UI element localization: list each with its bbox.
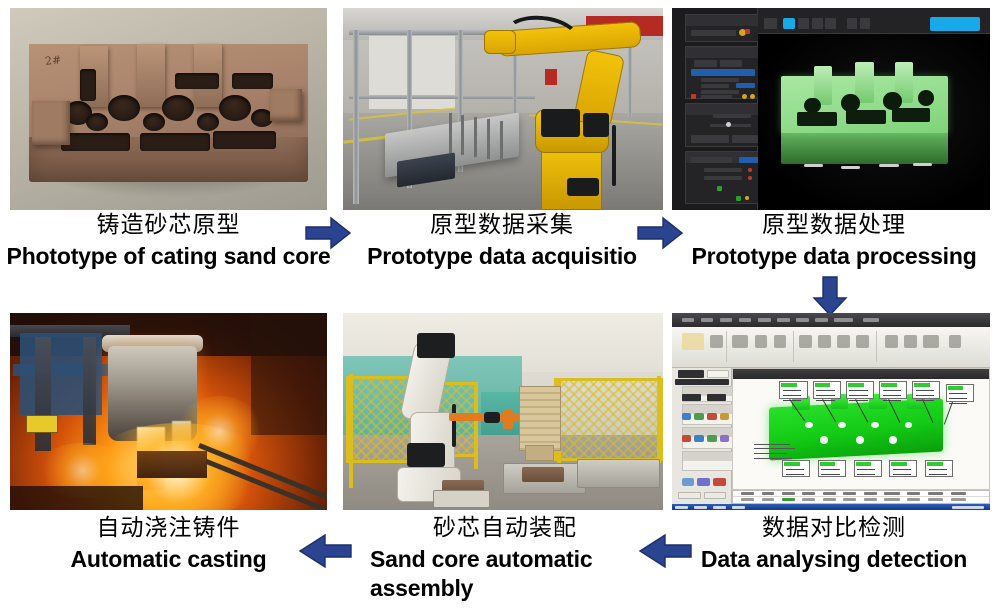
table-cell bbox=[928, 498, 943, 501]
measurement-callout[interactable] bbox=[779, 381, 807, 399]
table-header-cell bbox=[762, 492, 775, 495]
frame-post bbox=[628, 36, 632, 117]
toolbar-button[interactable] bbox=[847, 18, 857, 29]
step-1-caption: 铸造砂芯原型 Phototype of cating sand core bbox=[0, 212, 337, 270]
callout-header bbox=[784, 462, 800, 466]
menu-item[interactable] bbox=[834, 318, 853, 323]
ribbon-button[interactable] bbox=[818, 335, 831, 349]
table-header-cell bbox=[907, 492, 920, 495]
callout-value-row bbox=[821, 469, 839, 470]
callout-value-row bbox=[949, 393, 967, 394]
ribbon-separator bbox=[726, 331, 727, 363]
toolbar-button[interactable] bbox=[812, 18, 823, 29]
step-2-label-en: Prototype data acquisitio bbox=[337, 243, 667, 270]
robot-controller-box bbox=[567, 178, 599, 196]
callout-value-row bbox=[929, 474, 947, 475]
menu-item[interactable] bbox=[739, 318, 752, 323]
callout-value-row bbox=[816, 400, 834, 401]
wooden-crate bbox=[525, 445, 554, 461]
core-port bbox=[232, 73, 273, 89]
menu-item[interactable] bbox=[720, 318, 733, 323]
scan-record-icon bbox=[745, 29, 750, 34]
ribbon-button[interactable] bbox=[949, 335, 962, 349]
panel-button[interactable] bbox=[682, 394, 701, 401]
scan-model-bore bbox=[841, 94, 860, 112]
fence-post bbox=[474, 382, 478, 469]
panel-icon[interactable] bbox=[697, 478, 710, 486]
callout-value-row bbox=[883, 390, 901, 391]
mould-box bbox=[137, 451, 207, 479]
toolbar-button[interactable] bbox=[798, 18, 809, 29]
model-info-text bbox=[754, 453, 787, 454]
crane-frame bbox=[13, 364, 114, 376]
ribbon-button[interactable] bbox=[732, 335, 748, 349]
step-5-label-en-line1: Sand core automatic bbox=[360, 546, 650, 573]
arrow-step1-to-step2 bbox=[305, 216, 351, 250]
scan-list-item[interactable] bbox=[704, 176, 742, 180]
callout-header bbox=[781, 383, 797, 387]
panel-icon[interactable] bbox=[713, 478, 726, 486]
gripper-tool bbox=[484, 412, 500, 424]
table-cell bbox=[907, 498, 920, 501]
panel-icon[interactable] bbox=[720, 435, 730, 442]
sand-core-prototype-photo: 2# bbox=[10, 8, 327, 210]
table-cell bbox=[823, 498, 836, 501]
scan-action-row bbox=[701, 95, 733, 99]
3d-scan-software-screenshot bbox=[672, 8, 990, 210]
scan-button[interactable] bbox=[691, 135, 729, 143]
arrow-step5-to-step6 bbox=[298, 533, 352, 569]
callout-value-row bbox=[849, 390, 867, 391]
scan-dropdown bbox=[691, 30, 736, 36]
panel-toolbar bbox=[675, 379, 729, 385]
model-info-text bbox=[754, 448, 795, 449]
menu-item[interactable] bbox=[758, 318, 771, 323]
taskbar-icon[interactable] bbox=[732, 506, 745, 509]
scan-list-header bbox=[691, 157, 732, 163]
scan-model-marker bbox=[879, 164, 900, 167]
fence-post bbox=[349, 374, 353, 488]
callout-value-row bbox=[916, 395, 934, 396]
ribbon-button[interactable] bbox=[755, 335, 768, 349]
core-port bbox=[80, 69, 96, 101]
step-5-caption: 砂芯自动装配 Sand core automatic assembly bbox=[360, 515, 650, 602]
callout-value-row bbox=[786, 474, 804, 475]
scan-delete-icon[interactable] bbox=[748, 168, 752, 172]
sand-core-marking: 2# bbox=[44, 54, 61, 69]
table-cell bbox=[884, 498, 899, 501]
callout-value-row bbox=[893, 469, 911, 470]
menu-item[interactable] bbox=[701, 318, 714, 323]
callout-value-row bbox=[916, 400, 934, 401]
panel-icon[interactable] bbox=[682, 435, 692, 442]
scan-button[interactable] bbox=[732, 135, 757, 143]
core-port bbox=[61, 133, 131, 151]
pallet-fixture bbox=[577, 459, 660, 489]
step-4-label-cn: 数据对比检测 bbox=[668, 515, 1000, 542]
menu-item[interactable] bbox=[815, 318, 828, 323]
callout-value-row bbox=[916, 390, 934, 391]
callout-value-row bbox=[816, 395, 834, 396]
callout-value-row bbox=[883, 400, 901, 401]
step-1-label-en: Phototype of cating sand core bbox=[0, 243, 337, 270]
callout-value-row bbox=[816, 390, 834, 391]
panel-icon[interactable] bbox=[694, 435, 704, 442]
table-cell bbox=[741, 498, 754, 501]
ribbon-button[interactable] bbox=[837, 335, 850, 349]
robot-scanning-photo bbox=[343, 8, 663, 210]
step-3-caption: 原型数据处理 Prototype data processing bbox=[668, 212, 1000, 270]
scan-confirm-icon[interactable] bbox=[736, 196, 741, 201]
callout-value-row bbox=[783, 395, 801, 396]
scan-list-badge bbox=[739, 157, 758, 163]
conveyor-roller bbox=[461, 115, 464, 156]
os-taskbar[interactable] bbox=[672, 504, 990, 510]
measurement-callout[interactable] bbox=[879, 381, 907, 399]
crane-column bbox=[83, 337, 96, 445]
callout-value-row bbox=[893, 474, 911, 475]
table-header-cell bbox=[782, 492, 795, 495]
scan-option-row bbox=[701, 90, 739, 94]
menu-item[interactable] bbox=[863, 318, 879, 323]
table-cell bbox=[864, 498, 877, 501]
ribbon-button[interactable] bbox=[799, 335, 812, 349]
step-5-label-cn: 砂芯自动装配 bbox=[360, 515, 650, 542]
workflow-diagram: 2# bbox=[0, 0, 1000, 610]
panel-icon[interactable] bbox=[707, 413, 717, 420]
toolbar-button[interactable] bbox=[764, 18, 777, 29]
measurement-callout[interactable] bbox=[946, 384, 974, 402]
menu-item[interactable] bbox=[682, 318, 695, 323]
model-feature bbox=[856, 436, 864, 443]
measurement-results-table[interactable] bbox=[732, 490, 990, 504]
ribbon-button[interactable] bbox=[923, 335, 939, 349]
furnace-hall-dark bbox=[251, 313, 327, 435]
scan-value-field bbox=[736, 83, 755, 88]
ribbon-button[interactable] bbox=[774, 335, 787, 349]
core-bore bbox=[219, 95, 251, 121]
scan-model-bore bbox=[804, 98, 820, 114]
red-bin bbox=[545, 69, 558, 85]
step-1-label-cn: 铸造砂芯原型 bbox=[0, 212, 337, 239]
robot-wrist-head bbox=[417, 333, 455, 359]
measurement-callout[interactable] bbox=[846, 381, 874, 399]
step-6-label-cn: 自动浇注铸件 bbox=[0, 515, 337, 542]
callout-value-row bbox=[849, 395, 867, 396]
core-boss bbox=[270, 89, 302, 121]
table-cell bbox=[802, 498, 815, 501]
model-info-text bbox=[754, 458, 792, 459]
panel-icon[interactable] bbox=[707, 435, 717, 442]
toolbar-button[interactable] bbox=[860, 18, 870, 29]
scan-status-icon bbox=[717, 186, 722, 191]
step-5-label-en-line2: assembly bbox=[360, 575, 650, 602]
scan-flag-icon bbox=[745, 196, 749, 200]
table-header-cell bbox=[864, 492, 877, 495]
measurement-callout[interactable] bbox=[889, 460, 917, 477]
callout-header bbox=[948, 386, 964, 390]
conveyor-roller bbox=[449, 113, 452, 154]
table-header-cell bbox=[802, 492, 815, 495]
callout-value-row bbox=[821, 474, 839, 475]
measurement-callout[interactable] bbox=[813, 381, 841, 399]
conveyor-roller bbox=[474, 117, 477, 158]
scan-delete-icon[interactable] bbox=[748, 176, 752, 180]
viewport-titlebar bbox=[733, 369, 989, 379]
robot-gripper-finger bbox=[503, 410, 513, 430]
table-header-cell bbox=[823, 492, 836, 495]
platform-edge bbox=[10, 486, 143, 510]
safety-fence bbox=[554, 378, 663, 461]
ribbon-separator bbox=[793, 331, 794, 363]
assembly-robot-photo bbox=[343, 313, 663, 510]
core-port bbox=[213, 131, 276, 149]
scan-option-row bbox=[701, 84, 730, 88]
callout-value-row bbox=[849, 400, 867, 401]
callout-header bbox=[891, 462, 907, 466]
ribbon-button[interactable] bbox=[710, 335, 723, 349]
toolbar-button[interactable] bbox=[825, 18, 836, 29]
callout-header bbox=[815, 383, 831, 387]
callout-value-row bbox=[783, 400, 801, 401]
core-bore bbox=[162, 95, 194, 121]
callout-value-row bbox=[857, 474, 875, 475]
scan-slider[interactable] bbox=[713, 114, 751, 118]
scan-list-item[interactable] bbox=[704, 168, 742, 172]
callout-header bbox=[914, 383, 930, 387]
scan-start-button[interactable] bbox=[930, 17, 981, 31]
model-feature bbox=[889, 436, 897, 443]
ribbon-button[interactable] bbox=[856, 335, 869, 349]
inspection-software-screenshot bbox=[672, 313, 990, 510]
pallet-base bbox=[433, 490, 491, 508]
core-bore bbox=[108, 95, 140, 121]
panel-icon[interactable] bbox=[720, 413, 730, 420]
scan-model-marker bbox=[841, 166, 860, 169]
callout-value-row bbox=[949, 398, 967, 399]
arrow-step2-to-step3 bbox=[637, 216, 683, 250]
model-feature bbox=[820, 436, 828, 443]
taskbar-clock bbox=[952, 506, 984, 509]
ribbon-button[interactable] bbox=[682, 333, 704, 351]
step-2-caption: 原型数据采集 Prototype data acquisitio bbox=[337, 212, 667, 270]
scan-progress-bar bbox=[691, 69, 755, 76]
core-port bbox=[140, 133, 210, 151]
step-3-label-cn: 原型数据处理 bbox=[668, 212, 1000, 239]
wooden-crate bbox=[519, 386, 561, 451]
callout-header bbox=[848, 383, 864, 387]
core-rib bbox=[137, 44, 166, 107]
model-feature bbox=[805, 422, 813, 428]
step-2-label-cn: 原型数据采集 bbox=[337, 212, 667, 239]
scan-model-port bbox=[846, 110, 885, 124]
ribbon-button[interactable] bbox=[885, 335, 898, 349]
table-header-cell bbox=[741, 492, 754, 495]
ribbon-button[interactable] bbox=[904, 335, 917, 349]
callout-leader-line bbox=[944, 401, 953, 424]
callout-header bbox=[820, 462, 836, 466]
panel-tab[interactable] bbox=[707, 370, 729, 378]
callout-header bbox=[927, 462, 943, 466]
table-cell bbox=[762, 498, 775, 501]
fence-post bbox=[657, 376, 661, 463]
arrow-step4-to-step5 bbox=[638, 533, 692, 569]
step-3-label-en: Prototype data processing bbox=[668, 243, 1000, 270]
table-header-cell bbox=[951, 492, 966, 495]
panel-tab-active[interactable] bbox=[678, 370, 703, 378]
arrow-step3-to-step4 bbox=[812, 276, 848, 316]
callout-value-row bbox=[883, 395, 901, 396]
step-6-caption: 自动浇注铸件 Automatic casting bbox=[0, 515, 337, 573]
robot-cable bbox=[452, 404, 456, 447]
table-cell bbox=[951, 498, 966, 501]
step-4-label-en: Data analysing detection bbox=[668, 546, 1000, 573]
step-4-caption: 数据对比检测 Data analysing detection bbox=[668, 515, 1000, 573]
table-header-cell bbox=[843, 492, 856, 495]
robot-motor bbox=[407, 443, 445, 467]
measurement-callout[interactable] bbox=[818, 460, 846, 477]
conveyor-roller bbox=[500, 121, 503, 160]
callout-value-row bbox=[929, 469, 947, 470]
taskbar-icon[interactable] bbox=[713, 506, 726, 509]
measurement-callout[interactable] bbox=[782, 460, 810, 477]
measurement-callout[interactable] bbox=[854, 460, 882, 477]
conveyor-roller bbox=[487, 119, 490, 160]
robot-motor bbox=[541, 109, 579, 137]
molten-pouring-photo bbox=[10, 313, 327, 510]
frame-post bbox=[353, 30, 359, 204]
model-feature bbox=[838, 422, 846, 428]
scan-model-port bbox=[797, 112, 836, 126]
robot-motor bbox=[583, 113, 609, 137]
step-6-label-en: Automatic casting bbox=[0, 546, 337, 573]
table-header-cell bbox=[884, 492, 899, 495]
frame-beam bbox=[349, 95, 535, 99]
scan-toggle bbox=[694, 60, 716, 67]
callout-value-row bbox=[783, 390, 801, 391]
callout-value-row bbox=[857, 469, 875, 470]
model-info-text bbox=[754, 444, 790, 445]
panel-button[interactable] bbox=[707, 394, 726, 401]
taskbar-icon[interactable] bbox=[694, 506, 707, 509]
panel-icon[interactable] bbox=[694, 413, 704, 420]
scan-toggle bbox=[720, 60, 742, 67]
model-feature bbox=[871, 422, 879, 428]
core-port bbox=[175, 73, 219, 89]
table-header-cell bbox=[928, 492, 943, 495]
core-boss bbox=[32, 101, 70, 145]
scan-stop-button[interactable] bbox=[691, 94, 696, 99]
warning-sign bbox=[26, 415, 58, 433]
measurement-callout[interactable] bbox=[925, 460, 953, 477]
taskbar-icon[interactable] bbox=[675, 506, 688, 509]
callout-value-row bbox=[786, 469, 804, 470]
inspection-3d-viewport[interactable] bbox=[732, 368, 990, 490]
scan-model-marker bbox=[913, 163, 932, 166]
ribbon-separator bbox=[876, 331, 877, 363]
scan-model-marker bbox=[804, 164, 823, 167]
crane-column bbox=[35, 337, 51, 451]
panel-icon[interactable] bbox=[682, 413, 692, 420]
toolbar-active-button[interactable] bbox=[783, 18, 795, 29]
table-header-rule bbox=[733, 496, 989, 497]
panel-button[interactable] bbox=[704, 492, 726, 499]
menu-item[interactable] bbox=[777, 318, 790, 323]
scan-model-port bbox=[892, 108, 929, 122]
table-cell bbox=[843, 498, 856, 501]
panel-icon[interactable] bbox=[682, 478, 695, 486]
measurement-callout[interactable] bbox=[912, 381, 940, 399]
sand-core-part bbox=[522, 467, 564, 483]
scan-option-row bbox=[701, 78, 739, 82]
menu-item[interactable] bbox=[796, 318, 809, 323]
robot-cable-segment bbox=[612, 125, 616, 186]
panel-button[interactable] bbox=[678, 492, 700, 499]
callout-header bbox=[856, 462, 872, 466]
scan-3d-viewport[interactable] bbox=[758, 34, 990, 210]
table-cell bbox=[782, 498, 795, 501]
callout-header bbox=[881, 383, 897, 387]
